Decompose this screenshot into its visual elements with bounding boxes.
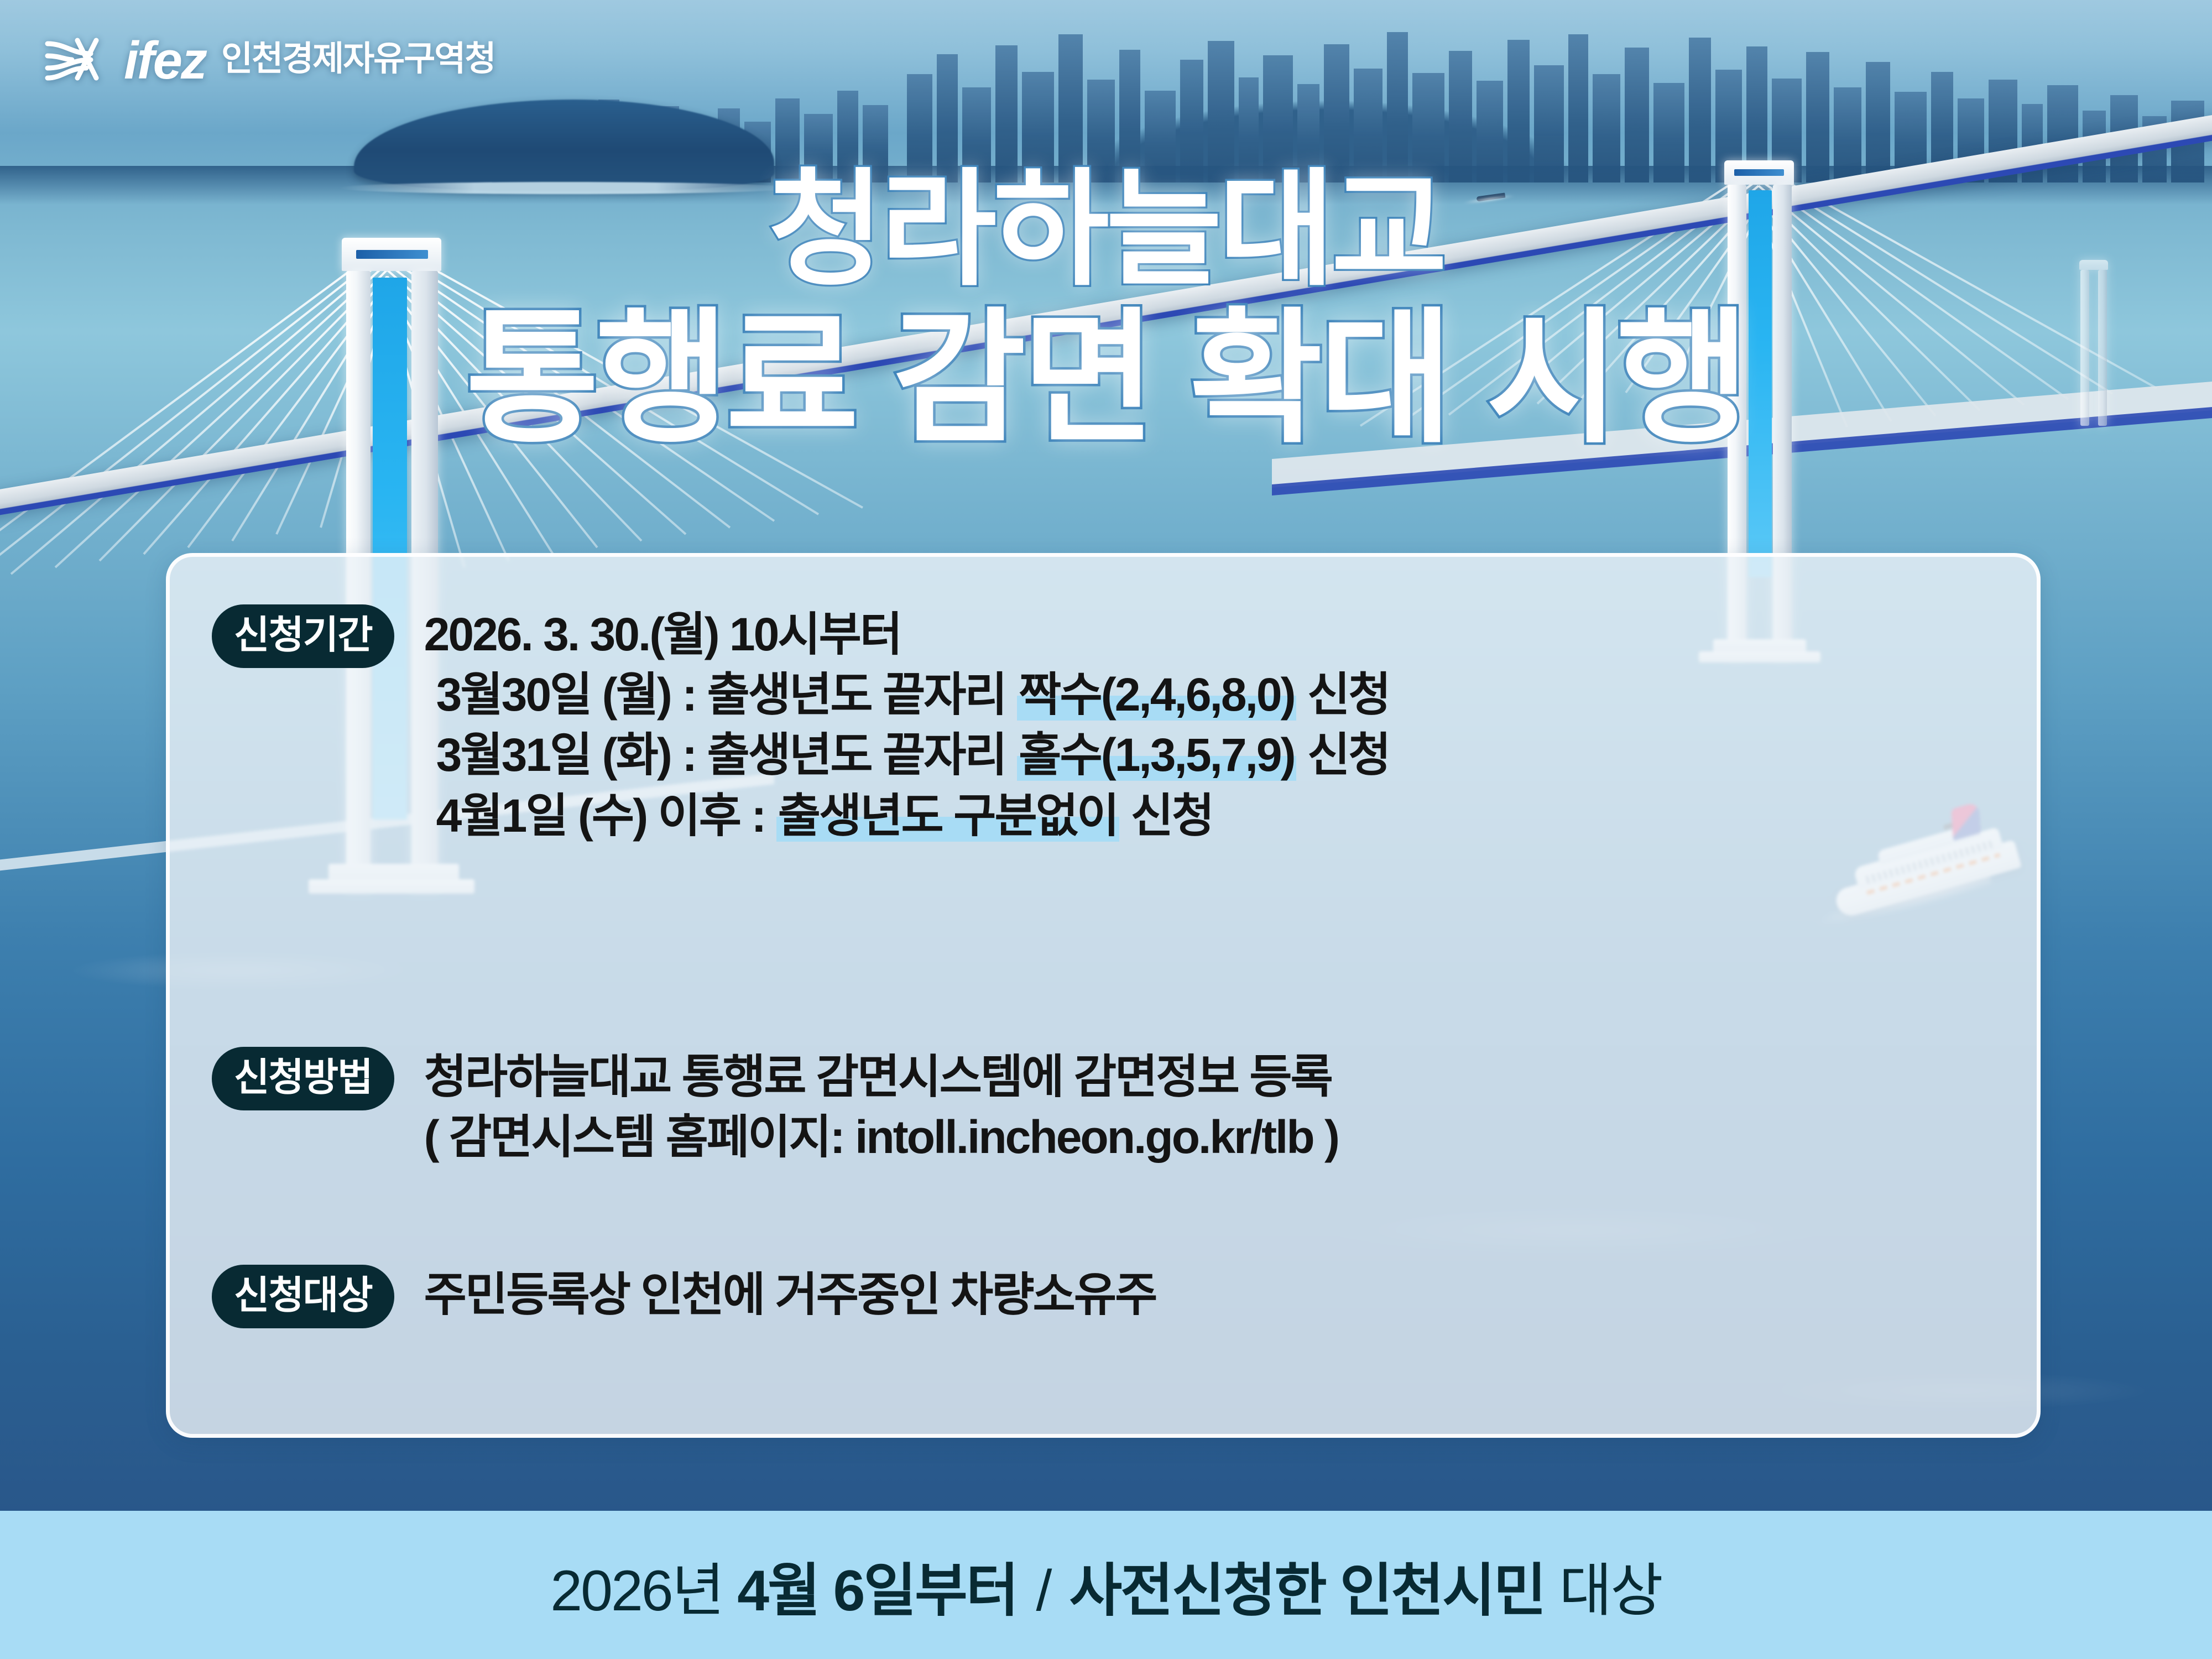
bottom-date-bold: 4월 6일 <box>737 1559 915 1623</box>
badge-application-method: 신청방법 <box>212 1047 394 1110</box>
poster-root: ifez 인천경제자유구역청 청라하늘대교 통행료 감면 확대 시행 신청기간 … <box>0 0 2212 1659</box>
ifez-logo[interactable]: ifez 인천경제자유구역청 <box>43 34 495 87</box>
bottom-year: 2026년 <box>550 1559 723 1623</box>
section-application-target: 신청대상 주민등록상 인천에 거주중인 차량소유주 <box>212 1265 1156 1328</box>
highlight-no-restriction: 출생년도 구분없이 <box>776 790 1120 842</box>
ifez-bowtie-mark-icon <box>43 35 108 87</box>
section-application-method: 신청방법 청라하늘대교 통행료 감면시스템에 감면정보 등록 ( 감면시스템 홈… <box>212 1047 1338 1167</box>
bottom-target-bold: 사전신청한 인천시민 <box>1069 1559 1545 1623</box>
method-line-1[interactable]: ( 감면시스템 홈페이지: intoll.incheon.go.kr/tlb ) <box>424 1107 1338 1167</box>
badge-application-period: 신청기간 <box>212 604 394 668</box>
bottom-date-tail: 부터 <box>915 1559 1017 1623</box>
highlight-even-digits: 짝수(2,4,6,8,0) <box>1017 669 1296 721</box>
period-line-3: 4월1일 (수) 이후 : 출생년도 구분없이 신청 <box>424 786 1390 846</box>
method-line-0: 청라하늘대교 통행료 감면시스템에 감면정보 등록 <box>424 1047 1338 1107</box>
info-card: 신청기간 2026. 3. 30.(월) 10시부터 3월30일 (월) : 출… <box>166 553 2041 1438</box>
city-skyline <box>0 0 2212 182</box>
target-line-0: 주민등록상 인천에 거주중인 차량소유주 <box>424 1265 1156 1325</box>
period-line-0: 2026. 3. 30.(월) 10시부터 <box>424 604 1390 665</box>
headline-line-1: 청라하늘대교 <box>0 166 2212 295</box>
bottom-summary-bar: 2026년 4월 6일부터/사전신청한 인천시민 대상 <box>0 1511 2212 1659</box>
application-method-lines: 청라하늘대교 통행료 감면시스템에 감면정보 등록 ( 감면시스템 홈페이지: … <box>424 1047 1338 1167</box>
ifez-wordmark: ifez <box>124 34 206 87</box>
application-period-lines: 2026. 3. 30.(월) 10시부터 3월30일 (월) : 출생년도 끝… <box>424 604 1390 846</box>
poster-headline: 청라하늘대교 통행료 감면 확대 시행 <box>0 166 2212 452</box>
application-target-lines: 주민등록상 인천에 거주중인 차량소유주 <box>424 1265 1156 1325</box>
period-line-1: 3월30일 (월) : 출생년도 끝자리 짝수(2,4,6,8,0) 신청 <box>424 665 1390 725</box>
badge-application-target: 신청대상 <box>212 1265 394 1328</box>
bottom-target-tail: 대상 <box>1559 1559 1661 1623</box>
period-line-2: 3월31일 (화) : 출생년도 끝자리 홀수(1,3,5,7,9) 신청 <box>424 725 1390 785</box>
bottom-bar-text: 2026년 4월 6일부터/사전신청한 인천시민 대상 <box>550 1543 1661 1627</box>
bottom-separator: / <box>1018 1559 1070 1623</box>
headline-line-2: 통행료 감면 확대 시행 <box>0 305 2212 452</box>
section-application-period: 신청기간 2026. 3. 30.(월) 10시부터 3월30일 (월) : 출… <box>212 604 1390 846</box>
ifez-agency-name: 인천경제자유구역청 <box>221 42 495 80</box>
highlight-odd-digits: 홀수(1,3,5,7,9) <box>1017 729 1296 781</box>
